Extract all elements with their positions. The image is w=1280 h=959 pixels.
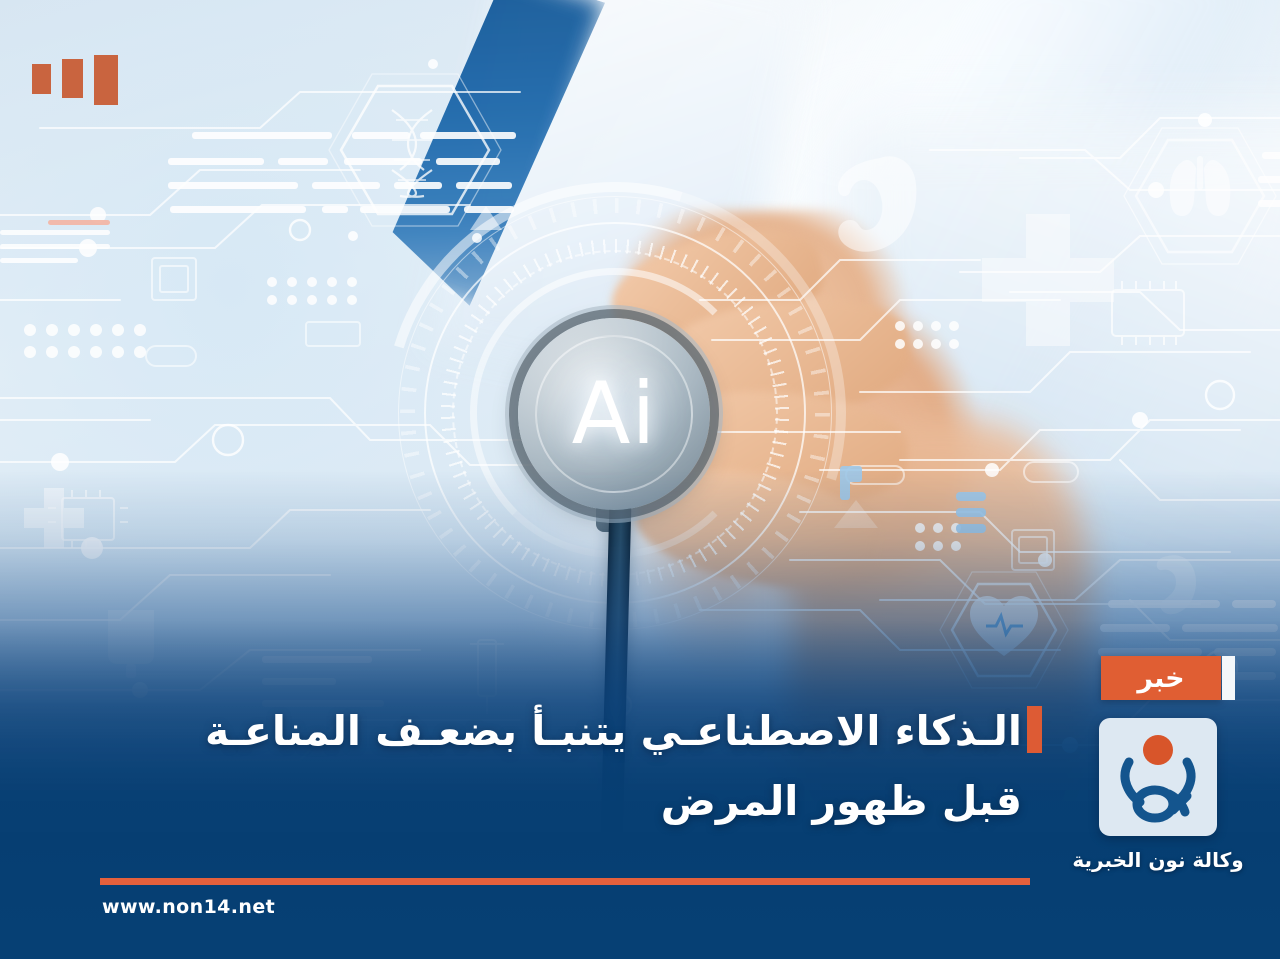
news-badge: خبر [1101, 656, 1221, 700]
bar-2 [62, 59, 83, 98]
headline-accent-bar [1027, 706, 1042, 753]
ai-label: Ai [518, 318, 710, 510]
bar-3 [32, 64, 51, 94]
agency-name: وكالة نون الخبرية [1040, 848, 1276, 872]
footer-rule [100, 878, 1030, 885]
website-url: www.non14.net [102, 896, 275, 918]
three-bars-mark [32, 55, 118, 105]
news-card: Ai خبر الـذكاء الاصطناعـي يتنبـأ بضعـف ا… [0, 0, 1280, 959]
headline-line-1: الـذكاء الاصطناعـي يتنبـأ بضعـف المناعـة [42, 700, 1022, 762]
noon-logo-icon [1099, 718, 1217, 836]
news-badge-tail [1222, 656, 1235, 700]
news-badge-label: خبر [1137, 663, 1184, 694]
headline: الـذكاء الاصطناعـي يتنبـأ بضعـف المناعـة… [42, 700, 1022, 833]
agency-logo [1099, 718, 1217, 836]
headline-line-2: قبل ظهور المرض [42, 770, 1022, 832]
bar-1 [94, 55, 118, 105]
